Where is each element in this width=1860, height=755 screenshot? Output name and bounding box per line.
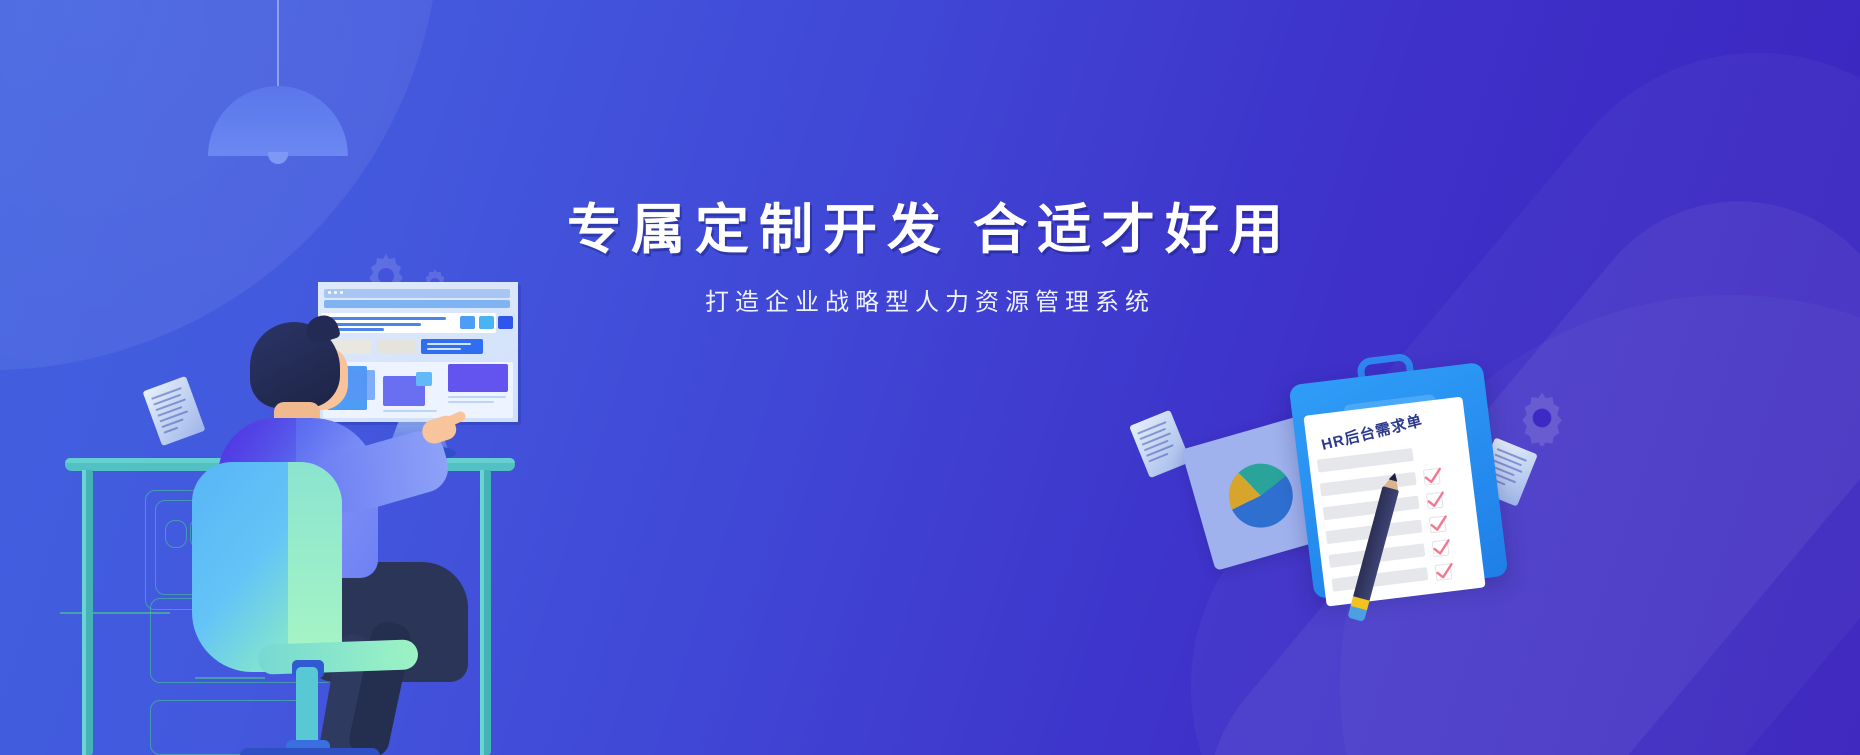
clipboard-paper: HR后台需求单 [1303,397,1485,607]
gear-icon-right [1514,390,1570,446]
check-icon [1426,491,1446,511]
office-chair [192,462,412,755]
chair-base [240,748,380,755]
floating-document-icon-middle [1129,410,1191,478]
page-title: 专属定制开发合适才好用 [0,0,1860,264]
check-icon [1432,538,1452,558]
check-icon [1434,562,1454,582]
hero-banner: HR后台需求单 [0,0,1860,755]
screen-tiles [460,316,513,329]
hero-copy: 专属定制开发合适才好用 打造企业战略型人力资源管理系统 [0,0,1860,317]
headline-part2: 合适才好用 [973,200,1293,260]
check-icon [1423,467,1443,487]
pie-chart [1221,456,1300,535]
hr-requirement-clipboard: HR后台需求单 [1286,344,1508,601]
desk-leg-right [480,470,491,755]
headline-part1: 专属定制开发 [567,200,951,260]
chair-seat [258,639,419,675]
chair-backrest-edge [288,462,342,672]
chair-post [296,667,318,745]
desk-leg-left [82,470,93,755]
check-icon [1429,514,1449,534]
clipboard-checklist [1317,441,1477,601]
clipboard-board: HR后台需求单 [1289,362,1509,599]
page-subtitle: 打造企业战略型人力资源管理系统 [0,282,1860,317]
